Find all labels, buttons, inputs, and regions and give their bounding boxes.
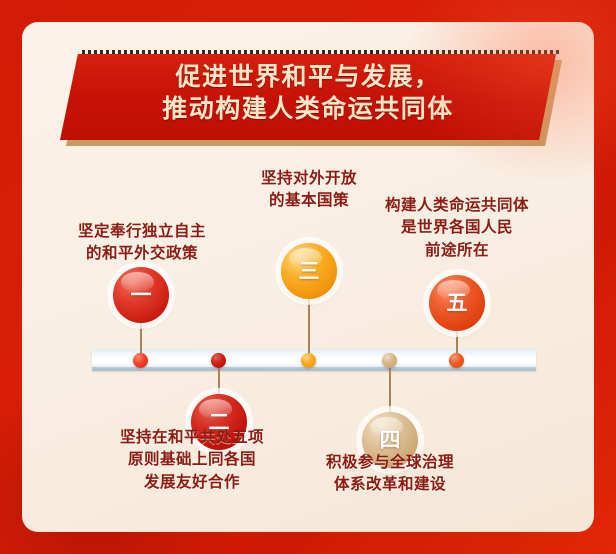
- banner-title-line-2: 推动构建人类命运共同体: [162, 94, 454, 125]
- node-5-bubble[interactable]: 五: [429, 275, 485, 331]
- node-4-label-line-2: 体系改革和建设: [290, 474, 490, 496]
- node-1-label-line-1: 坚定奉行独立自主: [27, 221, 257, 243]
- node-5-label-line-2: 是世界各国人民: [357, 217, 557, 239]
- timeline-bar-edge: [92, 367, 536, 371]
- connector-stem-4: [389, 362, 391, 418]
- connector-stem-3: [308, 298, 310, 358]
- timeline-dot-4[interactable]: [382, 353, 397, 368]
- node-3[interactable]: 三: [281, 243, 337, 299]
- node-5-label-line-3: 前途所在: [357, 240, 557, 262]
- title-banner: 促进世界和平与发展， 推动构建人类命运共同体: [60, 50, 560, 150]
- banner-text-block: 促进世界和平与发展， 推动构建人类命运共同体: [60, 50, 556, 136]
- node-5-label-line-1: 构建人类命运共同体: [357, 195, 557, 217]
- poster-root: 促进世界和平与发展， 推动构建人类命运共同体 一 坚定奉行独立自主 的和平外交政: [0, 0, 616, 554]
- node-5[interactable]: 五: [429, 275, 485, 331]
- node-5-label: 构建人类命运共同体 是世界各国人民 前途所在: [357, 195, 557, 262]
- node-2-label-line-1: 坚持在和平共处五项: [42, 427, 342, 449]
- timeline-dot-5[interactable]: [449, 353, 464, 368]
- content-panel: 促进世界和平与发展， 推动构建人类命运共同体 一 坚定奉行独立自主 的和平外交政: [22, 22, 594, 532]
- node-1[interactable]: 一: [113, 267, 169, 323]
- node-1-numeral: 一: [131, 285, 152, 306]
- node-2-numeral: 二: [209, 412, 230, 433]
- node-1-label-line-2: 的和平外交政策: [27, 243, 257, 265]
- node-4-label-line-1: 积极参与全球治理: [290, 452, 490, 474]
- node-4-label: 积极参与全球治理 体系改革和建设: [290, 452, 490, 497]
- node-1-bubble[interactable]: 一: [113, 267, 169, 323]
- timeline-dot-3[interactable]: [301, 353, 316, 368]
- node-1-label: 坚定奉行独立自主 的和平外交政策: [27, 221, 257, 266]
- timeline-dot-1[interactable]: [133, 353, 148, 368]
- node-3-numeral: 三: [299, 261, 320, 282]
- node-4-numeral: 四: [380, 430, 401, 451]
- timeline-dot-2[interactable]: [211, 353, 226, 368]
- node-3-label-line-1: 坚持对外开放: [209, 168, 409, 190]
- node-3-bubble[interactable]: 三: [281, 243, 337, 299]
- node-5-numeral: 五: [447, 293, 468, 314]
- banner-title-line-1: 促进世界和平与发展，: [175, 62, 440, 93]
